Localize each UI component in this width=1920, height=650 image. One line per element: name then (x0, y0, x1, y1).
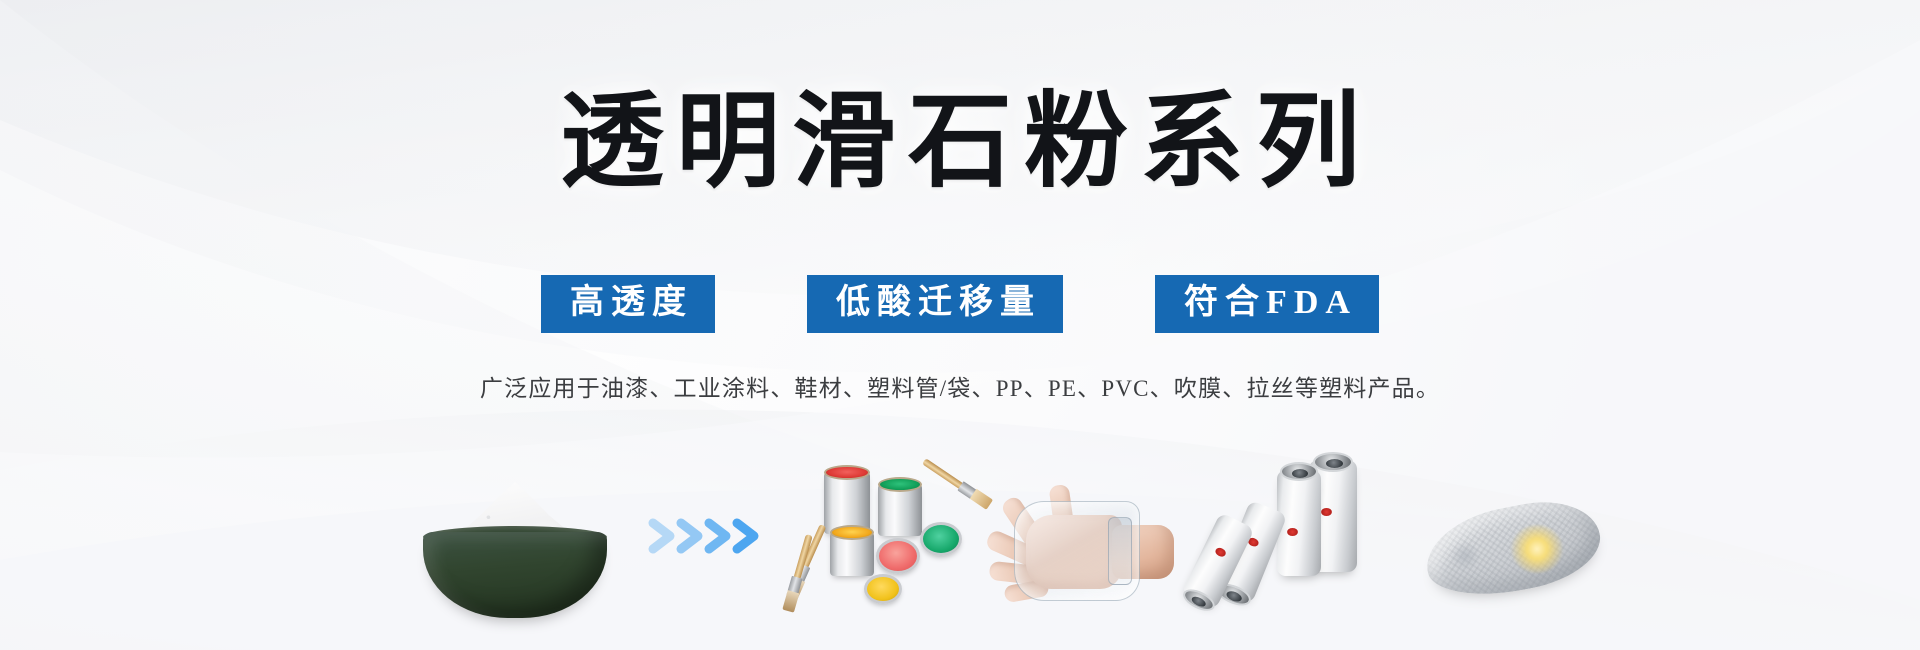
paint-can-yellow (830, 532, 874, 576)
film-roll-core (1225, 589, 1243, 603)
chevron-right-arrows-icon (645, 510, 785, 562)
paint-can-red-lid (824, 465, 870, 480)
film-roll-cap (1180, 585, 1218, 615)
film-roll-cap (1313, 452, 1353, 472)
plastic-glove-hand-image (1000, 473, 1180, 618)
green-bowl (423, 532, 607, 618)
process-arrow-group (645, 510, 785, 562)
paint-cans-image (790, 458, 980, 618)
film-roll-cap (1280, 462, 1318, 481)
paint-tin-green (920, 522, 962, 556)
stick-handle (922, 458, 964, 490)
product-banner: 透明滑石粉系列 高透度 低酸迁移量 符合FDA 广泛应用于油漆、工业涂料、鞋材、… (0, 0, 1920, 650)
plastic-film-rolls-image (1195, 458, 1380, 618)
feature-badge-list: 高透度 低酸迁移量 符合FDA (0, 275, 1920, 333)
film-roll-core (1190, 595, 1207, 609)
talc-powder-bowl-image (415, 478, 615, 618)
brush-bristles (782, 590, 799, 613)
feature-badge-high-transparency[interactable]: 高透度 (541, 275, 715, 333)
shoe-sole-image (1425, 483, 1605, 618)
film-roll-core (1292, 469, 1308, 478)
paint-tin-pink (876, 538, 920, 574)
film-roll-mark (1214, 546, 1227, 558)
paint-can-green-lid (878, 477, 922, 492)
feature-badge-low-acid-migration[interactable]: 低酸迁移量 (807, 275, 1063, 333)
paint-can-green (878, 484, 922, 536)
feature-badge-fda-compliant[interactable]: 符合FDA (1155, 275, 1379, 333)
product-application-strip (0, 428, 1920, 618)
shoe-sole-highlight (1511, 525, 1563, 573)
paint-tin-gold (864, 574, 902, 604)
film-roll-mark (1287, 528, 1298, 536)
film-roll-core (1326, 459, 1343, 468)
banner-title: 透明滑石粉系列 (0, 84, 1920, 202)
stick-tip (970, 489, 993, 510)
banner-description: 广泛应用于油漆、工业涂料、鞋材、塑料管/袋、PP、PE、PVC、吹膜、拉丝等塑料… (0, 374, 1920, 404)
film-roll-mark (1321, 508, 1332, 516)
paint-can-yellow-lid (830, 525, 874, 540)
glove-cuff (1108, 517, 1132, 585)
